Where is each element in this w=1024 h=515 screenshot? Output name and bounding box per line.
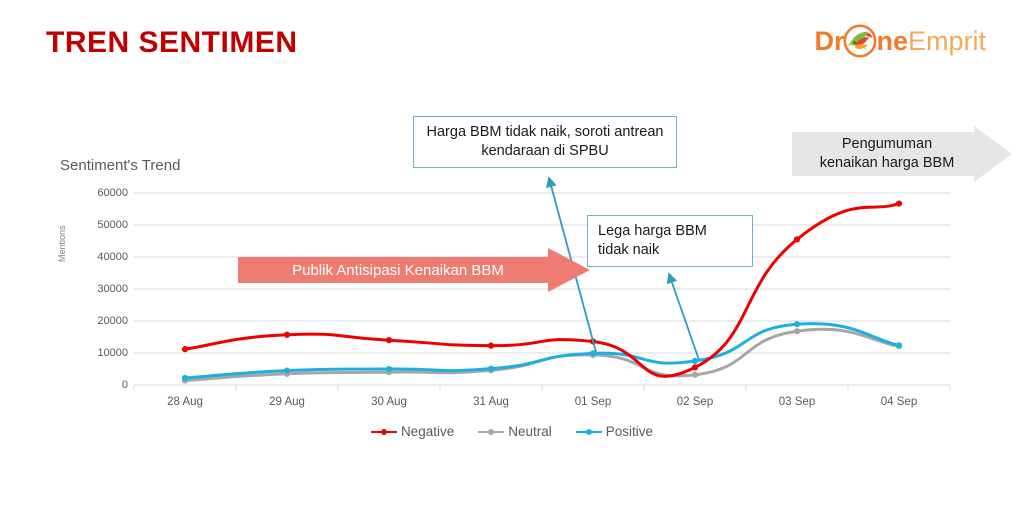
red-arrow-banner-label: Publik Antisipasi Kenaikan BBM <box>238 248 558 292</box>
data-point <box>488 343 494 349</box>
data-point <box>284 332 290 338</box>
callout-lega-line-2: tidak naik <box>598 241 742 260</box>
series-positive <box>182 321 902 381</box>
series-neutral <box>182 328 902 383</box>
gray-arrow-banner-label: Pengumuman kenaikan harga BBM <box>792 126 982 182</box>
legend-swatch <box>478 427 504 437</box>
data-point <box>590 338 596 344</box>
data-point <box>284 368 290 374</box>
chart-legend: NegativeNeutralPositive <box>0 424 1024 439</box>
x-axis-tick-label: 01 Sep <box>575 396 611 408</box>
x-axis-tick-label: 30 Aug <box>371 396 407 408</box>
legend-item-neutral[interactable]: Neutral <box>478 424 552 439</box>
data-point <box>182 346 188 352</box>
data-point <box>182 375 188 381</box>
data-point <box>386 366 392 372</box>
legend-label: Neutral <box>508 424 552 439</box>
data-point <box>692 358 698 364</box>
gray-arrow-line-2: kenaikan harga BBM <box>820 154 955 173</box>
data-point <box>488 366 494 372</box>
callout-lega[interactable]: Lega harga BBM tidak naik <box>587 215 753 267</box>
chart-axis-tick-marks <box>134 385 950 391</box>
slide-canvas: TREN SENTIMEN Dr ne Emprit Sentiment's T… <box>0 0 1024 515</box>
data-point <box>692 364 698 370</box>
data-point <box>386 337 392 343</box>
x-axis-tick-label: 28 Aug <box>167 396 203 408</box>
legend-label: Positive <box>606 424 653 439</box>
callout-spbu[interactable]: Harga BBM tidak naik, soroti antrean ken… <box>413 116 677 168</box>
data-point <box>896 200 902 206</box>
x-axis-tick-label: 02 Sep <box>677 396 713 408</box>
chart-series-lines <box>182 200 902 383</box>
legend-swatch <box>576 427 602 437</box>
x-axis-tick-label: 31 Aug <box>473 396 509 408</box>
data-point <box>794 328 800 334</box>
x-axis-tick-label: 03 Sep <box>779 396 815 408</box>
data-point <box>692 372 698 378</box>
legend-label: Negative <box>401 424 454 439</box>
data-point <box>896 342 902 348</box>
callout-lega-line-1: Lega harga BBM <box>598 222 742 241</box>
legend-item-negative[interactable]: Negative <box>371 424 454 439</box>
data-point <box>794 236 800 242</box>
legend-item-positive[interactable]: Positive <box>576 424 653 439</box>
x-axis-tick-label: 04 Sep <box>881 396 917 408</box>
legend-swatch <box>371 427 397 437</box>
gray-arrow-line-1: Pengumuman <box>842 135 932 154</box>
x-axis-tick-label: 29 Aug <box>269 396 305 408</box>
data-point <box>794 321 800 327</box>
data-point <box>590 350 596 356</box>
